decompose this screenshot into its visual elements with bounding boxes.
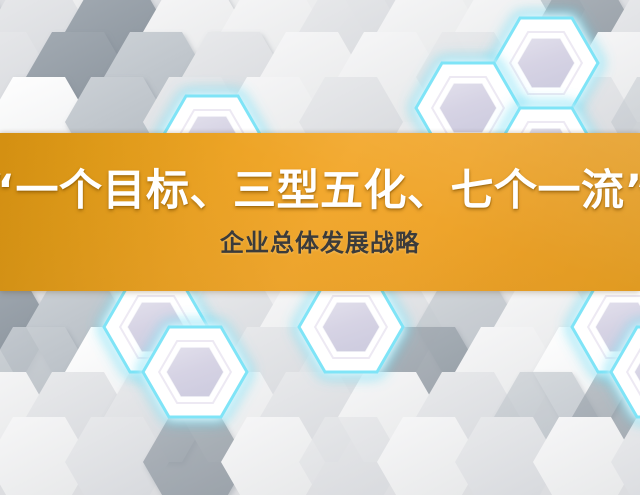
page-title: “一个目标、三型五化、七个一流” [0,168,640,214]
title-banner: “一个目标、三型五化、七个一流” 企业总体发展战略 [0,133,640,291]
presentation-slide: “一个目标、三型五化、七个一流” 企业总体发展战略 [0,0,640,495]
page-subtitle: 企业总体发展战略 [220,230,420,256]
